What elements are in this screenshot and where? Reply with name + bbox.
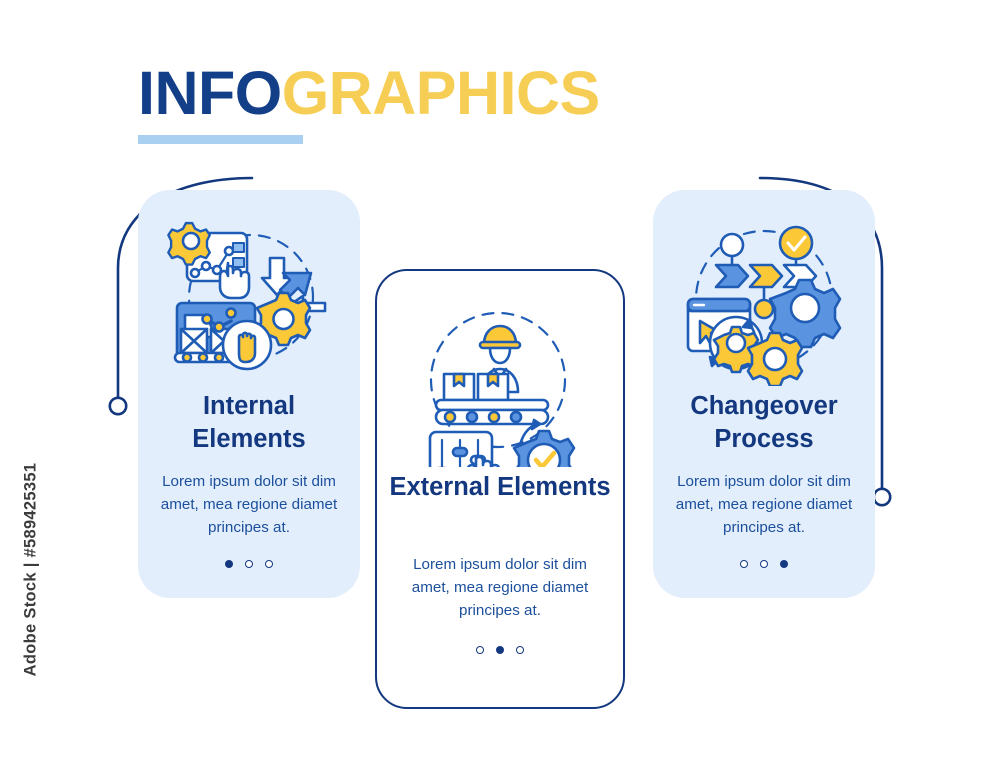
right-connector-endpoint (874, 489, 890, 505)
step-dot-2[interactable] (760, 560, 768, 568)
step-indicator-dots[interactable] (653, 560, 875, 568)
stock-watermark: Adobe Stock | #589425351 (22, 455, 41, 685)
step-dot-1[interactable] (476, 646, 484, 654)
step-dot-3[interactable] (780, 560, 788, 568)
card-body-text: Lorem ipsum dolor sit dim amet, mea regi… (393, 553, 607, 622)
card-body-text: Lorem ipsum dolor sit dim amet, mea regi… (669, 470, 859, 539)
card-title: Changeover Process (665, 390, 863, 455)
changeover-process-icon (653, 206, 875, 391)
card-title: Internal Elements (150, 390, 348, 455)
card-internal-elements[interactable]: Internal Elements Lorem ipsum dolor sit … (138, 190, 360, 598)
step-indicator-dots[interactable] (138, 560, 360, 568)
card-title: External Elements (389, 471, 611, 504)
step-indicator-dots[interactable] (377, 646, 623, 654)
step-dot-3[interactable] (265, 560, 273, 568)
title-block: INFOGRAPHICS (138, 63, 600, 144)
external-elements-icon (377, 287, 623, 472)
internal-elements-icon (138, 206, 360, 391)
step-dot-3[interactable] (516, 646, 524, 654)
page-title-part-two: GRAPHICS (282, 59, 600, 127)
left-connector-endpoint (110, 398, 126, 414)
infographic-canvas: INFOGRAPHICS (0, 0, 1000, 784)
step-dot-1[interactable] (225, 560, 233, 568)
step-dot-1[interactable] (740, 560, 748, 568)
page-title: INFOGRAPHICS (138, 63, 600, 124)
step-dot-2[interactable] (496, 646, 504, 654)
title-underline-rule (138, 135, 303, 144)
step-dot-2[interactable] (245, 560, 253, 568)
card-body-text: Lorem ipsum dolor sit dim amet, mea regi… (154, 470, 344, 539)
card-changeover-process[interactable]: Changeover Process Lorem ipsum dolor sit… (653, 190, 875, 598)
page-title-part-one: INFO (138, 59, 282, 127)
card-external-elements[interactable]: External Elements Lorem ipsum dolor sit … (375, 269, 625, 709)
